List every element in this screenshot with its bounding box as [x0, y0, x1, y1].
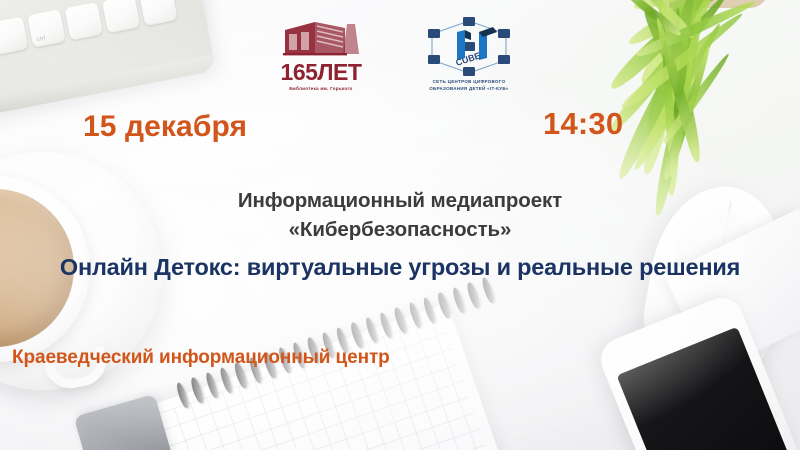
logo-row: 165ЛЕТ Библиотека им. Горького: [0, 16, 800, 92]
itcube-caption-line2: ОБРАЗОВАНИЯ ДЕТЕЙ «IT-КУБ»: [413, 86, 525, 93]
event-time: 14:30: [543, 106, 623, 142]
it-cube-hexagon-icon: CUBE: [413, 16, 525, 78]
event-subtitle-line2: «Кибербезопасность»: [50, 215, 750, 244]
poster-content: 165ЛЕТ Библиотека им. Горького: [0, 0, 800, 450]
library-caption: Библиотека им. Горького: [275, 86, 367, 91]
library-building-icon: [275, 16, 367, 60]
organizer-name: Краеведческий информационный центр: [12, 347, 390, 369]
event-poster: ctrl: [0, 0, 800, 450]
event-date: 15 декабря: [83, 110, 247, 144]
event-subtitle-line1: Информационный медиапроект: [50, 186, 750, 215]
event-headline: Онлайн Детокс: виртуальные угрозы и реал…: [50, 252, 750, 284]
library-years-number: 165: [281, 59, 318, 85]
library-years-suffix: ЛЕТ: [317, 59, 361, 85]
library-years: 165ЛЕТ: [275, 61, 367, 84]
library-logo: 165ЛЕТ Библиотека им. Горького: [275, 16, 367, 91]
itcube-caption: СЕТЬ ЦЕНТРОВ ЦИФРОВОГО ОБРАЗОВАНИЯ ДЕТЕЙ…: [413, 79, 525, 92]
event-text-block: Информационный медиапроект «Кибербезопас…: [50, 186, 750, 284]
event-subtitle: Информационный медиапроект «Кибербезопас…: [50, 186, 750, 244]
itcube-logo: CUBE СЕТЬ ЦЕНТРОВ ЦИФРОВОГО ОБРАЗОВАНИЯ …: [413, 16, 525, 92]
